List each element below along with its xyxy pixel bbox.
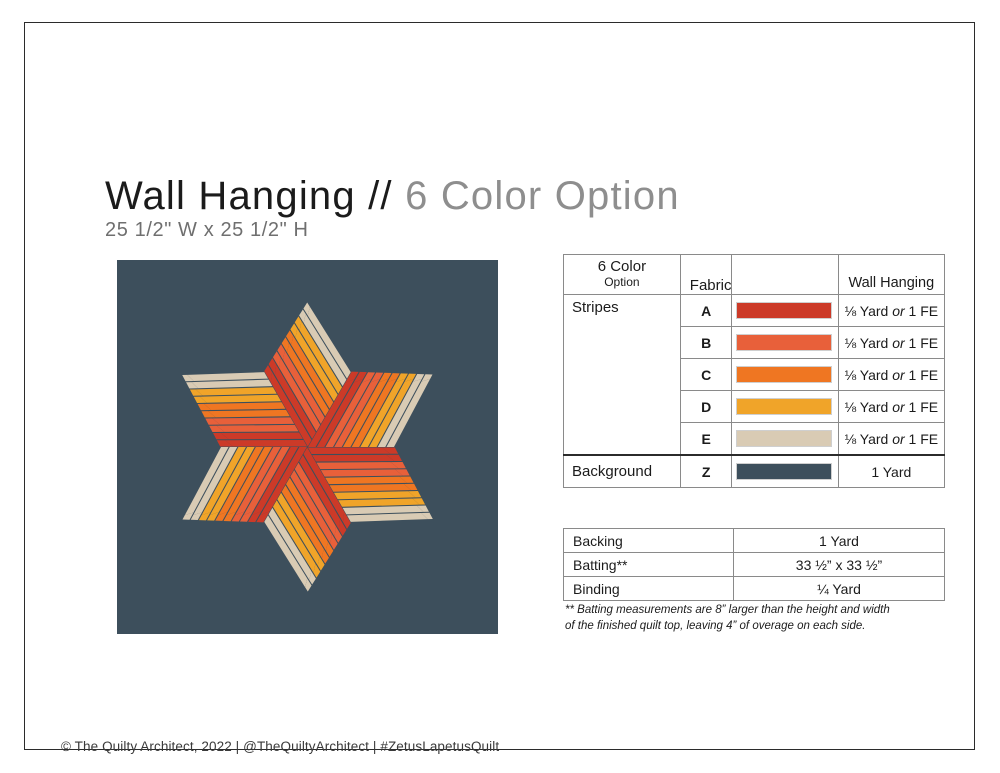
- fabric-swatch-z: [736, 463, 831, 480]
- material-label-batting: Batting**: [564, 553, 734, 577]
- table-row: Stripes A ⅛ Yard or 1 FE: [564, 295, 945, 327]
- fabric-swatch-z-cell: [732, 455, 838, 488]
- fabric-requirements-table: 6 Color Option Fabric Wall Hanging Strip…: [563, 254, 945, 488]
- fabric-swatch-d-cell: [732, 391, 838, 423]
- header-color-option-small: Option: [570, 276, 674, 289]
- footer-credit: © The Quilty Architect, 2022 | @TheQuilt…: [61, 739, 499, 754]
- fabric-amount-z: 1 Yard: [838, 455, 944, 488]
- fabric-table-header-row: 6 Color Option Fabric Wall Hanging: [564, 255, 945, 295]
- quilt-star-svg: [117, 260, 498, 634]
- fabric-swatch-b: [736, 334, 831, 351]
- page-subtitle: 25 1/2" W x 25 1/2" H: [105, 219, 745, 242]
- header-fabric: Fabric: [680, 255, 732, 295]
- table-row: Binding ¼ Yard: [564, 577, 945, 601]
- header-color-option: 6 Color Option: [564, 255, 681, 295]
- fabric-amount-e: ⅛ Yard or 1 FE: [838, 423, 944, 456]
- fabric-code-e: E: [680, 423, 732, 456]
- fabric-code-b: B: [680, 327, 732, 359]
- fabric-swatch-b-cell: [732, 327, 838, 359]
- group-label-background: Background: [564, 455, 681, 488]
- fabric-code-a: A: [680, 295, 732, 327]
- fabric-swatch-c-cell: [732, 359, 838, 391]
- fabric-amount-d: ⅛ Yard or 1 FE: [838, 391, 944, 423]
- page-title-plain: Wall Hanging //: [105, 174, 393, 218]
- fabric-amount-b: ⅛ Yard or 1 FE: [838, 327, 944, 359]
- fabric-code-c: C: [680, 359, 732, 391]
- fabric-swatch-a-cell: [732, 295, 838, 327]
- fabric-code-d: D: [680, 391, 732, 423]
- table-row: Background Z 1 Yard: [564, 455, 945, 488]
- materials-table: Backing 1 Yard Batting** 33 ½” x 33 ½” B…: [563, 528, 945, 601]
- header-fabric-spacer: [732, 255, 838, 295]
- fabric-swatch-c: [736, 366, 831, 383]
- fabric-swatch-d: [736, 398, 831, 415]
- material-value-batting: 33 ½” x 33 ½”: [734, 553, 945, 577]
- fabric-code-z: Z: [680, 455, 732, 488]
- table-row: Batting** 33 ½” x 33 ½”: [564, 553, 945, 577]
- batting-footnote-line1: ** Batting measurements are 8” larger th…: [565, 603, 955, 619]
- quilt-background: [117, 260, 498, 634]
- title-block: Wall Hanging // 6 Color Option 25 1/2" W…: [105, 175, 745, 242]
- fabric-swatch-e-cell: [732, 423, 838, 456]
- batting-footnote-line2: of the finished quilt top, leaving 4” of…: [565, 619, 955, 635]
- page-title: Wall Hanging // 6 Color Option: [105, 175, 745, 217]
- material-label-backing: Backing: [564, 529, 734, 553]
- page-frame: Wall Hanging // 6 Color Option 25 1/2" W…: [24, 22, 975, 750]
- batting-footnote: ** Batting measurements are 8” larger th…: [565, 603, 955, 634]
- header-wall-hanging: Wall Hanging: [838, 255, 944, 295]
- fabric-amount-c: ⅛ Yard or 1 FE: [838, 359, 944, 391]
- material-label-binding: Binding: [564, 577, 734, 601]
- table-row: Backing 1 Yard: [564, 529, 945, 553]
- header-color-option-big: 6 Color: [570, 259, 674, 276]
- fabric-swatch-a: [736, 302, 831, 319]
- quilt-illustration: [117, 260, 498, 634]
- fabric-swatch-e: [736, 430, 831, 447]
- group-label-stripes: Stripes: [564, 295, 681, 456]
- page-title-accent: 6 Color Option: [405, 174, 680, 218]
- material-value-backing: 1 Yard: [734, 529, 945, 553]
- fabric-amount-a: ⅛ Yard or 1 FE: [838, 295, 944, 327]
- material-value-binding: ¼ Yard: [734, 577, 945, 601]
